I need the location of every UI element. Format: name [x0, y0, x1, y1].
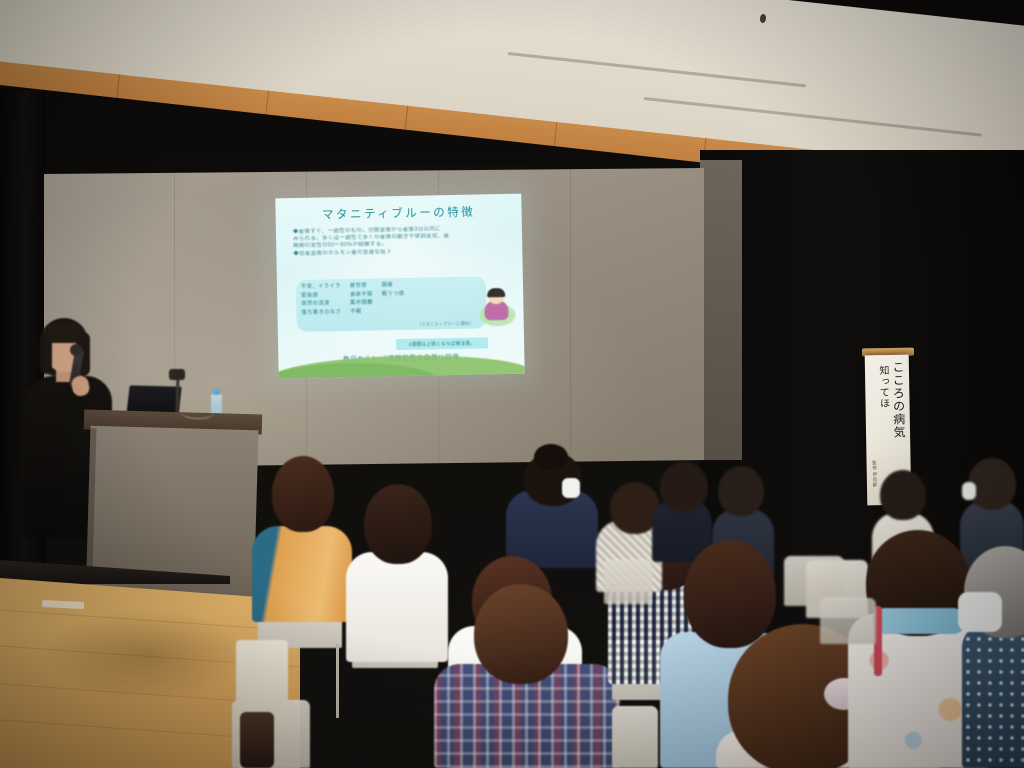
chair — [612, 706, 658, 768]
symptom-col-0: 不安、イライラ 緊張感 突然の流涙 落ち着きのなさ — [301, 282, 341, 317]
banner-signature: 監修 伊良部 — [872, 460, 878, 487]
face-mask — [958, 592, 1002, 632]
symptom-item: 集中困難 — [350, 299, 373, 308]
audience-head — [660, 462, 708, 512]
chair — [820, 598, 876, 644]
symptom-note: （マタニティブルーに類似） — [417, 321, 474, 328]
presentation-slide: マタニティブルーの特徴 ◆産後すぐ、一過性のもの。分娩直後から産後3日以内に み… — [275, 194, 524, 379]
floor-shadow — [46, 610, 246, 700]
audience-collar — [872, 608, 966, 634]
camera-tripod — [0, 652, 60, 768]
warning-highlight: 2週間以上続くならば要注意。 — [396, 337, 488, 350]
slide-bullets: ◆産後すぐ、一過性のもの。分娩直後から産後3日以内に みられる。多くは一過性で多… — [293, 225, 513, 258]
bottle-cap — [213, 389, 220, 395]
audience-torso — [346, 552, 448, 662]
symptom-item: 落ち着きのなさ — [301, 308, 341, 317]
hair-bun — [534, 444, 568, 470]
audience-head — [718, 466, 764, 516]
banner-line-2: 知ってほ — [875, 365, 891, 409]
speaker-hair-left — [40, 334, 52, 374]
photo-scene: マタニティブルーの特徴 ◆産後すぐ、一過性のもの。分娩直後から産後3日以内に み… — [0, 0, 1024, 768]
symptom-columns: 不安、イライラ 緊張感 突然の流涙 落ち着きのなさ 疲労感 食欲不振 集中困難 … — [301, 279, 487, 317]
warning-highlight-text: 2週間以上続くならば要注意。 — [396, 337, 488, 350]
audience-torso — [962, 622, 1024, 768]
symptom-col-1: 疲労感 食欲不振 集中困難 不眠 — [350, 282, 373, 317]
microphone-head-icon — [70, 344, 82, 356]
audience-head — [684, 540, 776, 648]
symptom-item: 軽うつ感 — [382, 290, 405, 299]
audience-torso — [252, 526, 352, 622]
audience-head — [880, 470, 926, 520]
face-mask — [962, 482, 976, 500]
symptom-item: 不安、イライラ — [301, 282, 341, 291]
audience-head — [364, 484, 432, 564]
audience-head — [474, 584, 568, 684]
side-wall — [700, 160, 742, 460]
projection-screen: マタニティブルーの特徴 ◆産後すぐ、一過性のもの。分娩直後から産後3日以内に み… — [275, 194, 524, 379]
symptom-item: 不眠 — [350, 307, 373, 316]
banner-line-1: こころの病気 — [891, 361, 905, 439]
chair-leg — [336, 644, 339, 718]
audience-head — [272, 456, 334, 532]
desk-camera-icon — [169, 369, 185, 380]
chair — [604, 560, 652, 604]
boot — [240, 712, 274, 768]
face-mask — [562, 478, 580, 498]
mother-illustration-icon — [475, 278, 518, 327]
symptom-col-2: 頭痛 軽うつ感 — [382, 281, 405, 316]
